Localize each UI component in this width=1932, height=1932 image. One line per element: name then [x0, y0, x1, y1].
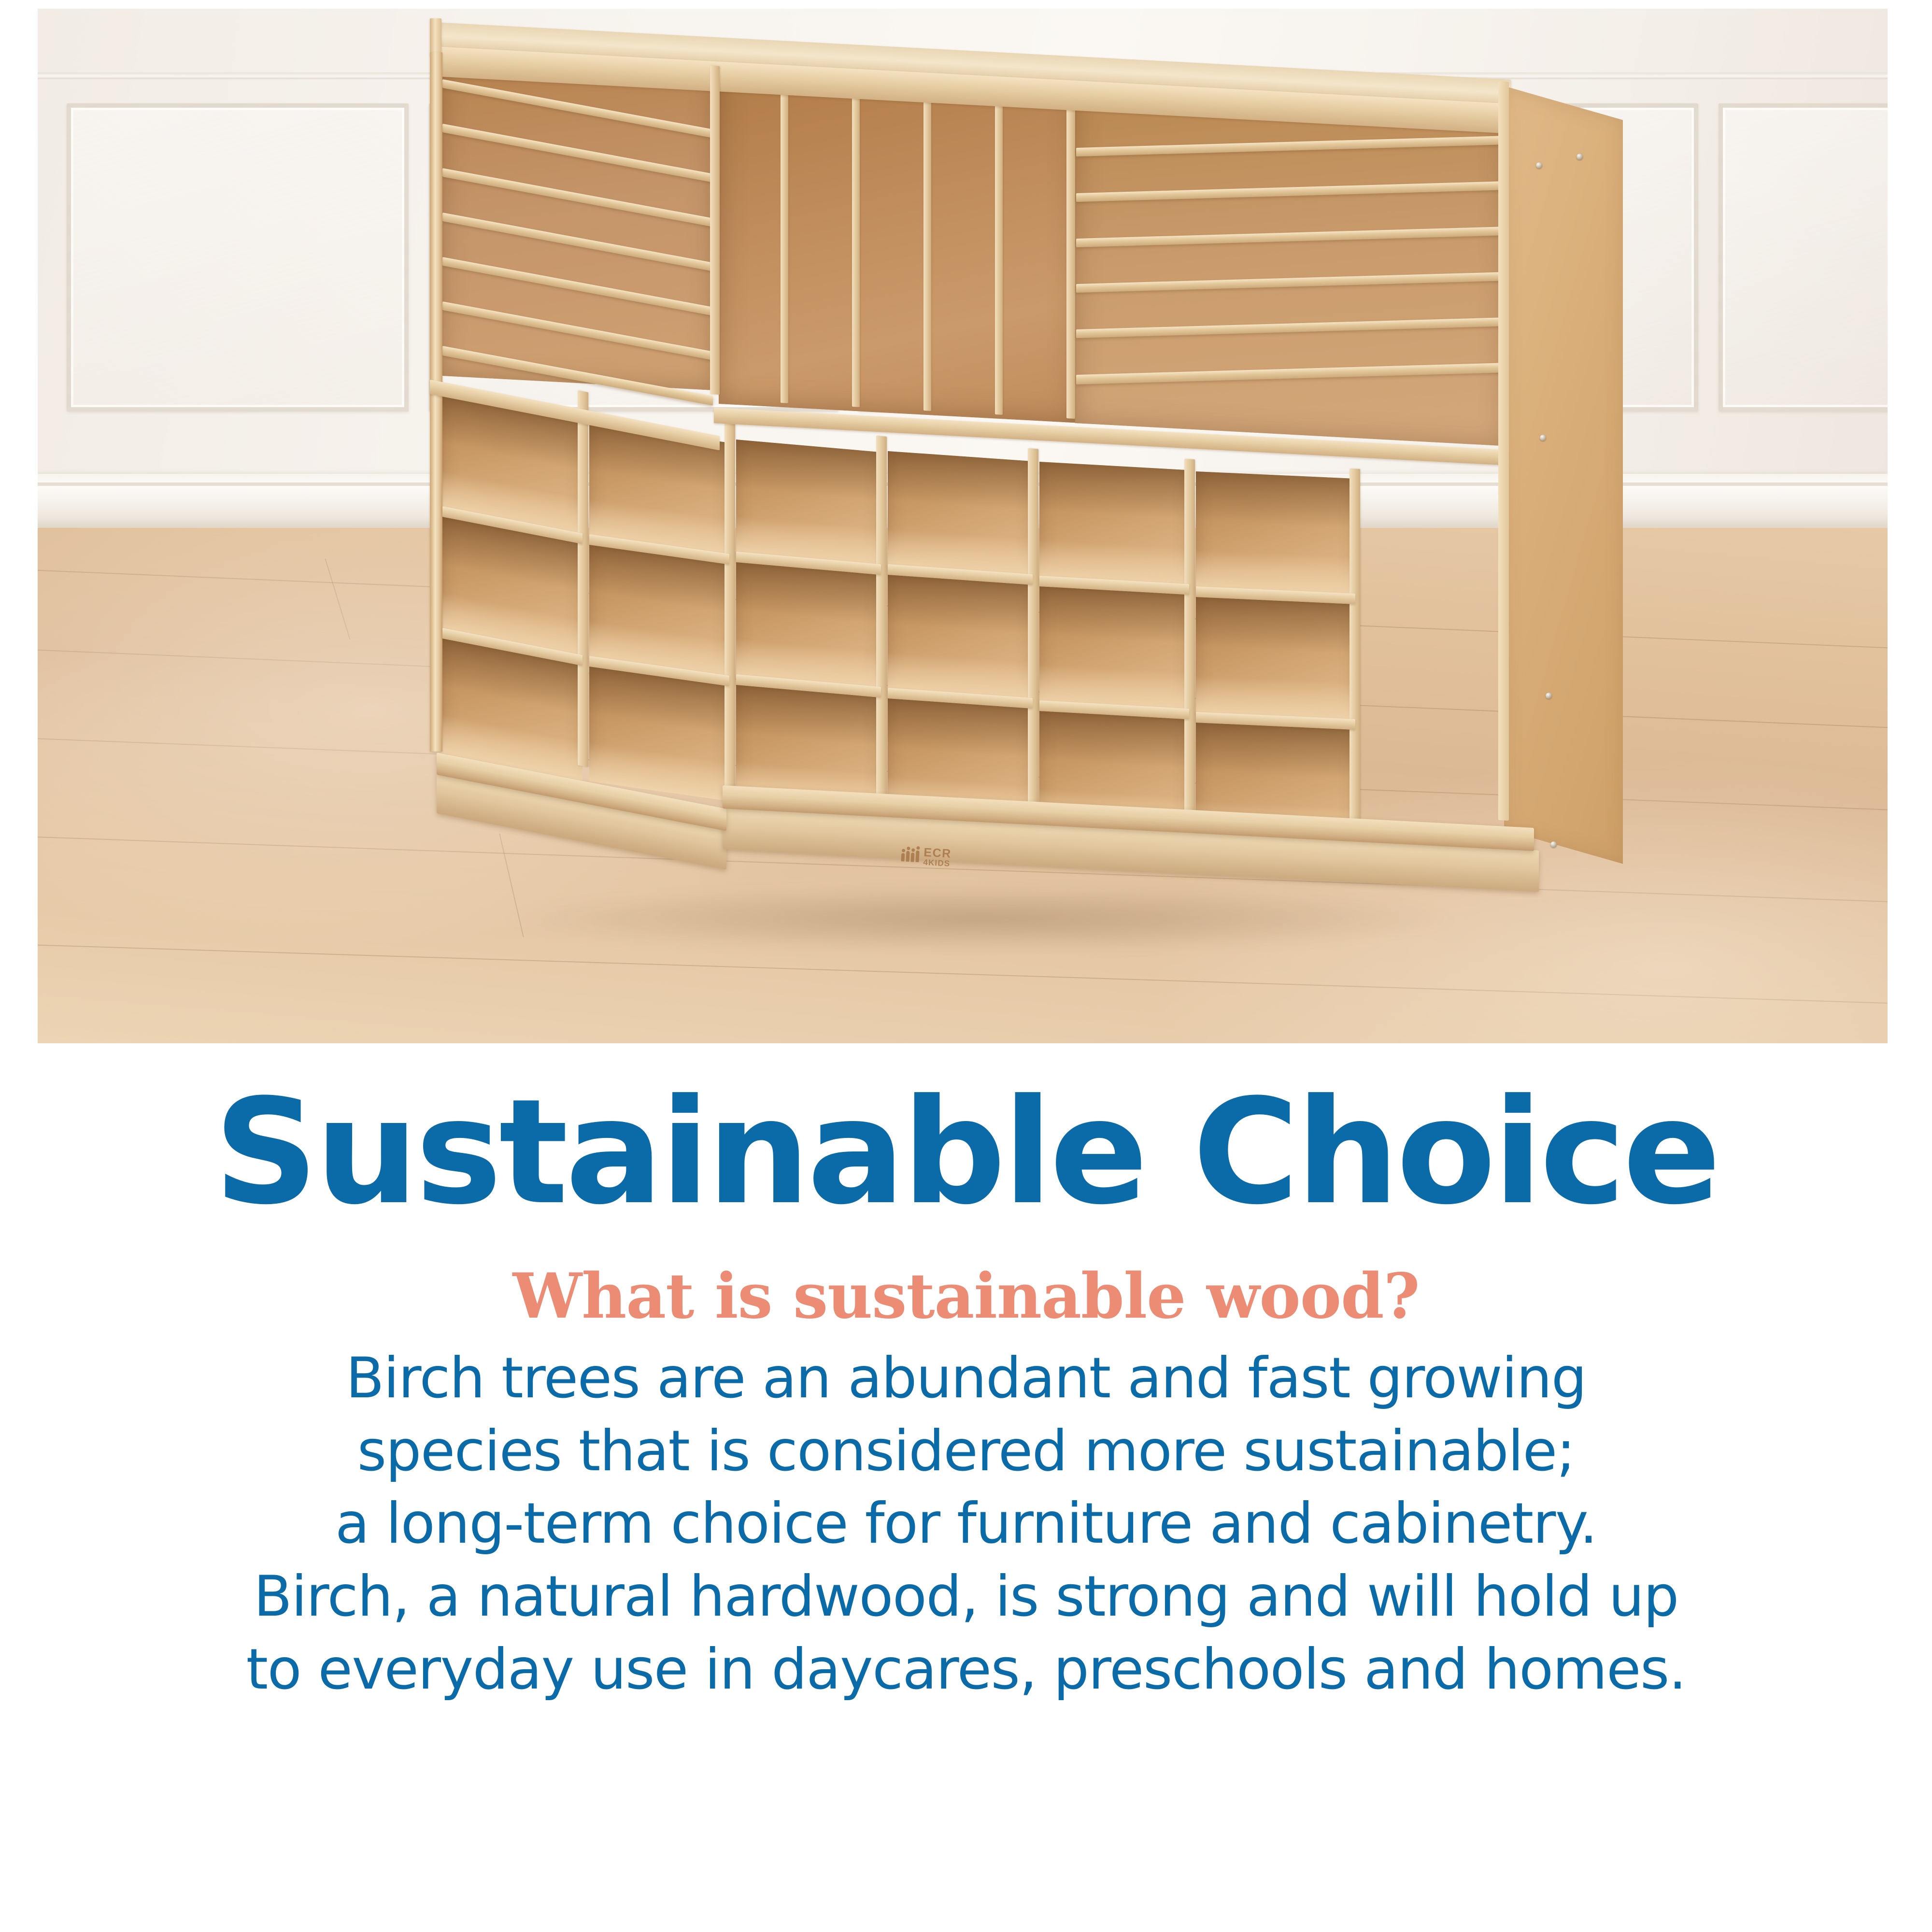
cubby-cell: [1196, 597, 1355, 723]
panel-screw-icon: [1536, 162, 1542, 169]
marketing-text-block: Sustainable Choice What is sustainable w…: [0, 1077, 1932, 1706]
body-line: species that is considered more sustaina…: [0, 1415, 1932, 1488]
cubby-vertical-divider: [578, 390, 588, 767]
upper-middle-vertical-divider: [1066, 85, 1075, 419]
upper-left-middle-divider: [710, 66, 720, 395]
body-line: to everyday use in daycares, preschools …: [0, 1634, 1932, 1706]
cubby-cell: [888, 451, 1033, 578]
cabinet-top-left-lip: [430, 18, 441, 56]
cubby-cell: [736, 562, 881, 691]
cubby-vertical-divider: [724, 418, 735, 801]
cubby-vertical-divider: [1350, 469, 1360, 864]
cubby-vertical-divider: [1184, 459, 1195, 852]
cubby-cell: [1039, 462, 1189, 588]
cubby-vertical-divider: [876, 436, 887, 822]
body-line: Birch trees are an abundant and fast gro…: [0, 1342, 1932, 1415]
wall-panel: [1719, 103, 1888, 412]
cubby-cell: [1196, 471, 1355, 597]
page-title: Sustainable Choice: [0, 1077, 1932, 1228]
body-line: a long-term choice for furniture and cab…: [0, 1488, 1932, 1561]
ecr-figures-icon: [901, 850, 919, 862]
wall-panel: [67, 103, 409, 412]
cabinet-floor-shadow: [424, 873, 1535, 965]
upper-middle-vertical-divider: [852, 73, 860, 407]
upper-middle-bay: [719, 66, 1076, 423]
cabinet-right-front-edge: [1498, 81, 1509, 821]
upper-middle-vertical-divider: [995, 81, 1003, 415]
cubby-cell: [888, 575, 1033, 702]
cabinet-left-stile: [430, 52, 442, 752]
panel-screw-icon: [1577, 154, 1583, 160]
cubby-vertical-divider: [1028, 448, 1038, 838]
section-subheading: What is sustainable wood?: [0, 1263, 1932, 1331]
panel-screw-icon: [1546, 693, 1552, 699]
brand-name-secondary: 4KIDS: [923, 858, 951, 867]
cubby-cell: [589, 667, 729, 801]
cubby-cell: [1039, 586, 1189, 712]
product-photo: ECR 4KIDS: [38, 9, 1888, 1043]
upper-middle-vertical-divider: [781, 70, 788, 403]
panel-screw-icon: [1540, 435, 1546, 441]
panel-screw-icon: [1550, 841, 1557, 848]
upper-middle-vertical-divider: [923, 77, 931, 411]
body-line: Birch, a natural hardwood, is strong and…: [0, 1561, 1932, 1634]
body-paragraph: Birch trees are an abundant and fast gro…: [0, 1342, 1932, 1706]
ecr4kids-brand-logo: ECR 4KIDS: [901, 846, 952, 867]
cabinet-right-side-panel: [1504, 86, 1623, 864]
cubby-cell: [736, 440, 881, 568]
